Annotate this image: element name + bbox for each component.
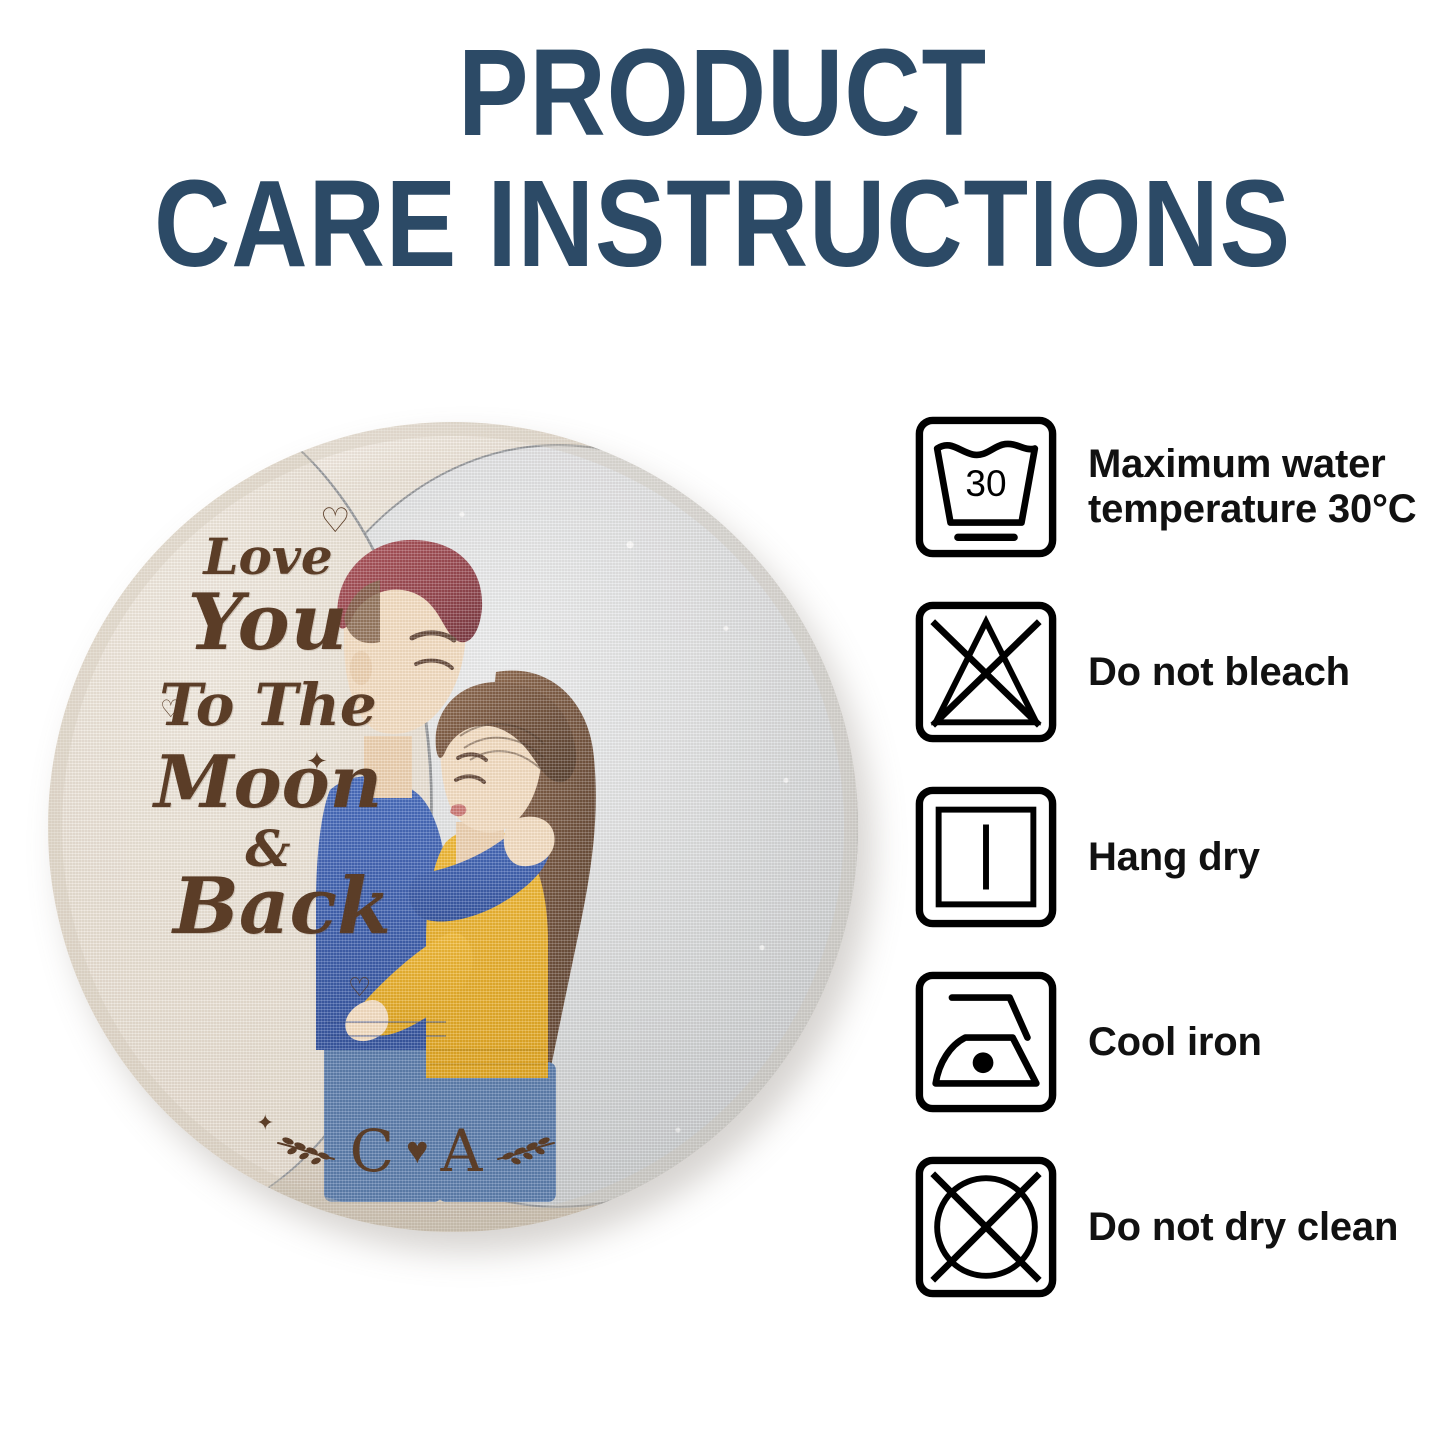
circle-crossed-do-not-dry-clean-icon — [912, 1153, 1060, 1301]
care-label: Do not bleach — [1088, 650, 1350, 695]
care-row: Hang dry — [912, 782, 1432, 932]
page-title-line-2: CARE INSTRUCTIONS — [101, 165, 1344, 286]
page-title-line-1: PRODUCT — [101, 34, 1344, 155]
care-label: Hang dry — [1088, 835, 1260, 880]
care-row: Do not dry clean — [912, 1152, 1432, 1302]
pillow-script-text: Love You To The Moon & Back — [88, 532, 448, 946]
iron-one-dot-cool-iron-icon — [912, 968, 1060, 1116]
heart-outline-icon: ♡ — [160, 698, 182, 722]
care-label: Cool iron — [1088, 1020, 1262, 1065]
care-label: Do not dry clean — [1088, 1205, 1398, 1250]
care-row: Do not bleach — [912, 597, 1432, 747]
script-line-back: Back — [116, 868, 448, 946]
page-header: PRODUCT CARE INSTRUCTIONS — [0, 0, 1445, 285]
monogram-initial-left: C — [350, 1122, 394, 1180]
heart-filled-icon: ♥ — [406, 1132, 429, 1170]
script-line-you: You — [88, 584, 448, 662]
script-line-love: Love — [88, 532, 448, 582]
script-line-to-the: To The — [88, 676, 448, 734]
script-line-moon: Moon — [88, 746, 448, 818]
care-row: Cool iron — [912, 967, 1432, 1117]
monogram-initial-right: A — [441, 1122, 483, 1180]
wash-temperature-value: 30 — [965, 463, 1006, 504]
wash-tub-30-gentle-icon: 30 — [912, 413, 1060, 561]
laurel-right-icon — [494, 1137, 556, 1165]
round-pillow: Love You To The Moon & Back ♡ ♡ ♡ ✦ ✦ — [48, 422, 858, 1232]
sparkle-icon: ✦ — [306, 748, 328, 774]
triangle-crossed-do-not-bleach-icon — [912, 598, 1060, 746]
square-vertical-line-hang-dry-icon — [912, 783, 1060, 931]
heart-outline-icon: ♡ — [320, 504, 350, 538]
woman-lips — [450, 804, 466, 816]
product-image: Love You To The Moon & Back ♡ ♡ ♡ ✦ ✦ — [38, 412, 878, 1262]
monogram: C ♥ A — [216, 1122, 616, 1180]
heart-outline-icon: ♡ — [348, 974, 371, 1000]
care-row: 30 Maximum water temperature 30°C — [912, 412, 1432, 562]
care-symbol-list: 30 Maximum water temperature 30°C Do not… — [912, 412, 1432, 1302]
care-label: Maximum water temperature 30°C — [1088, 442, 1432, 532]
laurel-left-icon — [276, 1137, 338, 1165]
